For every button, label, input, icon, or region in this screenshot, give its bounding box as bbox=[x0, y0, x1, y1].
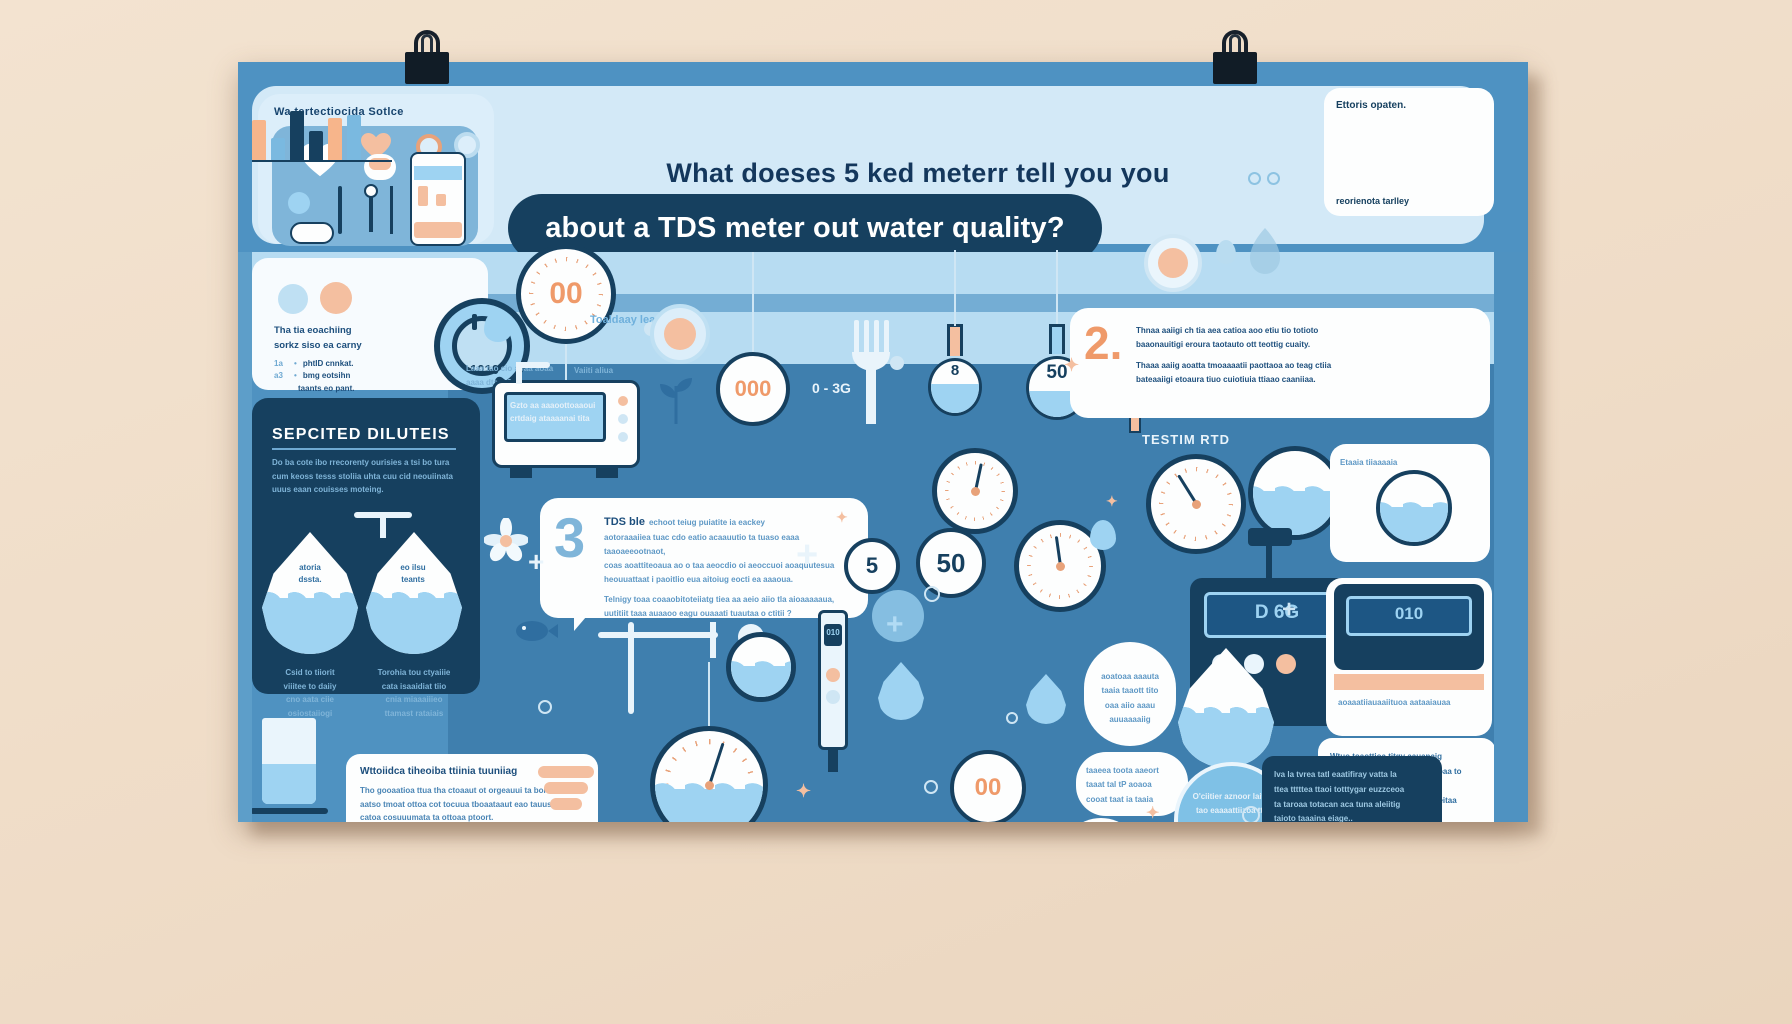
specified-diluteis-body: Do ba cote ibo rrecorenty ourisies a tsi… bbox=[272, 456, 464, 497]
center-bubble-bold: TDS ble bbox=[604, 514, 645, 531]
droplet-ring-fill bbox=[1158, 248, 1188, 278]
p2-line3: Thaaa aaiig aoatta tmoaaaatii paottaoa a… bbox=[1136, 359, 1478, 373]
badge-50-value: 50 bbox=[937, 548, 966, 579]
bullet-num: 1a bbox=[274, 358, 288, 370]
mini-chart-title: Ettoris opaten. bbox=[1336, 100, 1486, 111]
center-bubble-line1: echoot teiug puiatite ia eackey bbox=[649, 517, 765, 529]
dot-icon bbox=[1006, 712, 1018, 724]
clip-body bbox=[405, 52, 449, 84]
specified-diluteis-heading: SEPCITED DILUTEIS bbox=[272, 426, 468, 444]
magnifier-tick bbox=[472, 314, 477, 330]
chart-bar bbox=[347, 115, 361, 160]
droplet-water bbox=[1178, 713, 1274, 768]
phone-bar-2 bbox=[436, 194, 446, 206]
badge-000-value: 000 bbox=[735, 376, 772, 402]
knife-icon bbox=[390, 186, 393, 234]
gauge-hub bbox=[971, 487, 980, 496]
badge-00-low: 00 bbox=[950, 750, 1026, 822]
water-circle-card bbox=[1376, 470, 1452, 546]
poster-left-strip bbox=[238, 252, 252, 822]
connector-line bbox=[954, 250, 956, 326]
binder-clip-right bbox=[1208, 30, 1262, 86]
flower-icon bbox=[484, 518, 528, 564]
gauge-hub bbox=[1192, 500, 1201, 509]
filter-badge-icon bbox=[320, 282, 352, 314]
appliance-foot-right bbox=[596, 468, 618, 478]
water-glass-fill bbox=[262, 764, 316, 804]
left-intro-text: Tha tia eoachiing sorkz siso ea carny bbox=[274, 324, 424, 353]
sparkle-icon: ✦ bbox=[1146, 806, 1159, 822]
clip-body bbox=[1213, 52, 1257, 84]
droplet-small-icon bbox=[484, 310, 512, 342]
plus-icon: + bbox=[1282, 598, 1296, 622]
poster-right-strip bbox=[1494, 252, 1528, 822]
droplet-right-label: eo ilsu teants bbox=[380, 562, 446, 587]
chart-bar bbox=[290, 111, 304, 160]
jug-water bbox=[726, 666, 796, 697]
tds-pen-button[interactable] bbox=[826, 668, 840, 682]
plus-icon: + bbox=[796, 536, 818, 574]
water-glass-base bbox=[250, 808, 328, 814]
gauge-mid-1 bbox=[932, 448, 1018, 534]
droplet-right-caption: Torohia tou ctyaiiie cata isaaidiat tiio… bbox=[358, 666, 470, 720]
dot-icon bbox=[924, 780, 938, 794]
bottom-right-navy-text: Iva la tvrea tatl eaatifiray vatta latte… bbox=[1274, 768, 1432, 822]
binder-clip-left bbox=[400, 30, 454, 86]
left-intro-title: Tha tia eoachiing bbox=[274, 324, 424, 339]
water-jug-icon bbox=[726, 632, 796, 702]
panel-underline bbox=[272, 448, 456, 450]
gauge-water bbox=[650, 789, 768, 822]
right-oval-note-text: aoatoaa aaautataaia taaott titooaa aiio … bbox=[1094, 670, 1166, 728]
droplet-water bbox=[366, 598, 462, 654]
appliance-screen-text: Gzto aa aaaoottoaaoui crtdaig ataaaanai … bbox=[510, 400, 602, 426]
appliance-dial-3 bbox=[618, 432, 628, 442]
tds-pen-value: 010 bbox=[824, 628, 842, 637]
fish-icon bbox=[514, 618, 558, 644]
stack-ring-2 bbox=[544, 782, 588, 794]
right-column-card-top-text: Etaaia tiiaaaaia bbox=[1340, 456, 1480, 471]
badge-5-value: 5 bbox=[866, 553, 878, 579]
infographic-poster: Wa tertectiocida Sotlce What doeses 5 ke… bbox=[238, 62, 1528, 822]
droplet-shape bbox=[366, 532, 462, 654]
droplet-wave bbox=[366, 588, 462, 598]
meter-probe-head bbox=[1248, 528, 1292, 546]
droplet-wave bbox=[1178, 703, 1274, 713]
dot-icon bbox=[890, 356, 904, 370]
header-dots bbox=[1248, 172, 1280, 185]
mini-bar-chart bbox=[252, 96, 392, 162]
left-intro-bullets: 1a • phtID cnnkat. a3 • bmg eotsihn taan… bbox=[274, 358, 454, 395]
badge-00-low-value: 00 bbox=[975, 774, 1002, 802]
bowl-icon bbox=[290, 222, 334, 244]
right-device-caption: aoaaatiiauaaiituoa aataaiauaa bbox=[1338, 696, 1484, 710]
chart-bar bbox=[309, 131, 323, 160]
dot-icon bbox=[1242, 806, 1260, 822]
droplet-icon bbox=[1026, 674, 1066, 724]
bullet-text: bmg eotsihn bbox=[303, 370, 351, 382]
flask-neck bbox=[1049, 324, 1065, 354]
droplet-left-caption: Csid to tiiorit viiitee to daiiy cno aat… bbox=[258, 666, 362, 720]
badge-0-3g: 0 - 3G bbox=[812, 380, 851, 396]
droplet-shape bbox=[1178, 648, 1274, 768]
fork-icon bbox=[338, 186, 342, 234]
tds-pen-button-2[interactable] bbox=[826, 690, 840, 704]
info-badge-icon bbox=[664, 318, 696, 350]
pipe-riser bbox=[710, 622, 716, 658]
flask-8-value: 8 bbox=[928, 362, 982, 379]
appliance-foot-left bbox=[510, 468, 532, 478]
droplet-right bbox=[366, 532, 462, 654]
badge-000: 000 bbox=[716, 352, 790, 426]
badge-5: 5 bbox=[844, 538, 900, 594]
water-circle-right bbox=[1248, 446, 1342, 540]
center-bubble-line5: Telnigy toaa coaaobitoteiiatg tiea aa ae… bbox=[604, 593, 856, 607]
droplet-icon bbox=[878, 662, 924, 720]
water-fill bbox=[1376, 507, 1452, 542]
sparkle-icon: ✦ bbox=[796, 782, 811, 800]
p2-line1: Thnaa aaiigi ch tia aea catioa aoo etiu … bbox=[1136, 324, 1478, 338]
droplet-left bbox=[262, 532, 358, 654]
gauge-hub bbox=[1056, 562, 1065, 571]
p2-line4: bateaaiigi etoaura tiuo cuiotiuia ttiaao… bbox=[1136, 373, 1478, 387]
droplet-shape bbox=[878, 662, 924, 720]
bubble-icon bbox=[872, 590, 924, 642]
dot-icon bbox=[538, 700, 552, 714]
left-intro-line2: sorkz siso ea carny bbox=[274, 339, 424, 354]
right-panel-2-number: 2. bbox=[1084, 320, 1122, 366]
droplet-small-icon bbox=[1216, 240, 1236, 264]
droplet-left-label: atoria dssta. bbox=[278, 562, 342, 587]
center-bubble-line4: heouuattaat i paoitlio eua aitoiug eocti… bbox=[604, 573, 856, 587]
droplet-big-right bbox=[1178, 648, 1274, 768]
connector-line bbox=[1056, 250, 1058, 324]
plus-icon: + bbox=[528, 548, 544, 576]
droplet-shape bbox=[1026, 674, 1066, 724]
fork-utensil-icon bbox=[850, 320, 894, 424]
chart-bar bbox=[328, 118, 342, 160]
droplet-water bbox=[262, 598, 358, 654]
droplet-wave bbox=[262, 588, 358, 598]
chart-bar bbox=[271, 138, 285, 160]
chart-bar bbox=[252, 120, 266, 160]
phone-cta-button[interactable] bbox=[414, 222, 462, 238]
list-item: a3 • bmg eotsihn bbox=[274, 370, 454, 382]
flask-neck bbox=[947, 324, 963, 356]
bullet-text: taants eo pant. bbox=[298, 383, 354, 395]
appliance-spout-arm bbox=[516, 362, 550, 368]
appliance-dial-1 bbox=[618, 396, 628, 406]
tds-pen-probe bbox=[828, 748, 838, 772]
leaf-icon bbox=[1248, 228, 1282, 280]
pipe-horizontal bbox=[598, 632, 718, 638]
list-item: taants eo pant. bbox=[274, 383, 454, 395]
poster-title-line1: What doeses 5 ked meterr tell you you bbox=[538, 158, 1298, 189]
plant-icon bbox=[656, 362, 696, 424]
meter-button-3[interactable] bbox=[1276, 654, 1296, 674]
connector-line bbox=[752, 252, 754, 352]
droplet-small-icon bbox=[1090, 520, 1116, 550]
right-panel-2-text: Thnaa aaiigi ch tia aea catioa aoo etiu … bbox=[1136, 324, 1478, 388]
bullet-text: phtID cnnkat. bbox=[303, 358, 354, 370]
flask-liquid bbox=[931, 384, 979, 413]
leaf-badge-icon bbox=[278, 284, 308, 314]
testing-section-heading: TESTIM RTD bbox=[1142, 432, 1230, 447]
dot-icon bbox=[924, 586, 940, 602]
spoon-handle bbox=[369, 196, 373, 232]
mini-chart-footer: reorienota tarlley bbox=[1336, 196, 1486, 206]
connector-line bbox=[708, 662, 710, 726]
stack-ring-1 bbox=[538, 766, 594, 778]
phone-bar-1 bbox=[418, 186, 428, 206]
sparkle-icon: ✦ bbox=[1064, 356, 1079, 374]
droplet-shape bbox=[262, 532, 358, 654]
droplet-badge-icon bbox=[288, 192, 310, 214]
right-small-note-text: taaeea toota aaeorttaaat tal tP aoaoacoo… bbox=[1086, 764, 1180, 807]
list-item: 1a • phtID cnnkat. bbox=[274, 358, 454, 370]
meter-probe-stem bbox=[1266, 542, 1272, 582]
p2-line2: baaonauitigi eroura taotauto ott teottig… bbox=[1136, 338, 1478, 352]
phone-screen-water bbox=[414, 166, 462, 180]
right-device-accent-bar bbox=[1334, 674, 1484, 690]
center-bubble-number: 3 bbox=[554, 510, 585, 566]
gauge-meter-right bbox=[1146, 454, 1246, 554]
appliance-dial-2 bbox=[618, 414, 628, 424]
sparkle-icon: ✦ bbox=[1106, 494, 1118, 508]
gauge-hub bbox=[705, 781, 714, 790]
faucet-stem bbox=[380, 512, 386, 538]
stack-ring-3 bbox=[550, 798, 582, 810]
sparkle-icon: ✦ bbox=[836, 510, 848, 524]
right-device-value: 010 bbox=[1346, 604, 1472, 624]
poster-title-pill-text: about a TDS meter out water quality? bbox=[545, 212, 1065, 245]
bullet-num: a3 bbox=[274, 370, 288, 382]
